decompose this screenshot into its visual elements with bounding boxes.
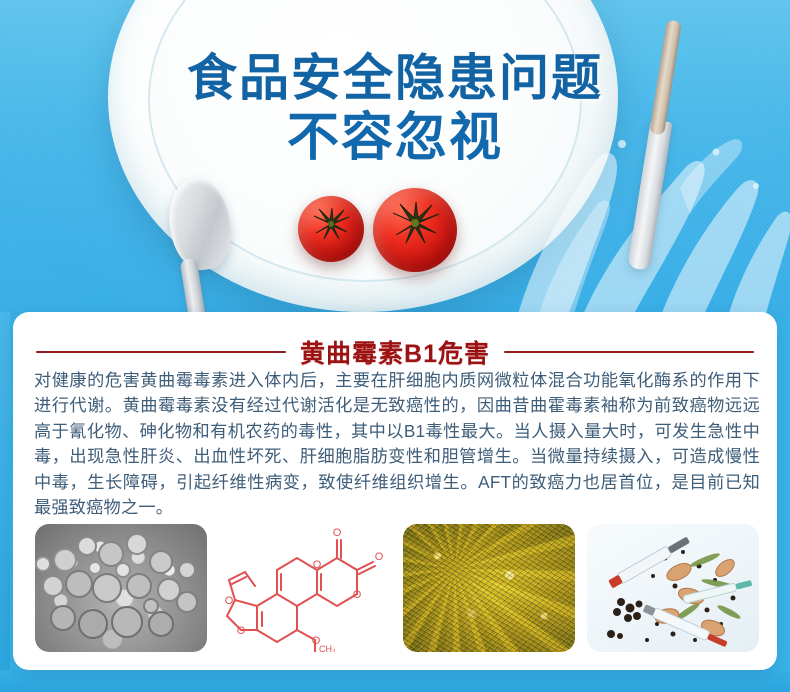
thumbnail-moldy-grain-texture[interactable] [403,524,575,652]
rule-left [36,351,286,353]
bottom-strip [0,670,790,692]
peanuts-syringes-icon [587,524,759,652]
aflatoxin-structure-icon: O O O O O O O CH₃ [219,524,391,652]
hero-banner: 食品安全隐患问题 不容忽视 [0,0,790,318]
svg-text:O: O [313,559,322,571]
tomato-stem-icon [311,207,351,241]
mold-spores-icon [35,524,207,652]
tomato-small [298,196,364,262]
left-edge-strip [0,312,10,692]
page-title-line-1: 食品安全隐患问题 [0,52,790,105]
svg-text:O: O [375,551,384,563]
hero-title-block: 食品安全隐患问题 不容忽视 [0,52,790,166]
body-text-block: 对健康的危害黄曲霉毒素进入体内后，主要在肝细胞内质网微粒体混合功能氧化酶系的作用… [34,368,760,520]
svg-text:O: O [333,527,342,539]
thumbnail-peanuts-and-syringes[interactable] [587,524,759,652]
section-header: 黄曲霉素B1危害 [13,334,777,370]
grain-texture-overlay [403,524,575,652]
rule-right [504,351,754,353]
svg-text:O: O [225,595,234,607]
content-card: 黄曲霉素B1危害 对健康的危害黄曲霉毒素进入体内后，主要在肝细胞内质网微粒体混合… [13,312,777,670]
tomato-large [373,188,457,272]
thumbnail-aflatoxin-b1-chemical-structure[interactable]: O O O O O O O CH₃ [219,524,391,652]
section-title: 黄曲霉素B1危害 [300,334,490,370]
tomato-stem-icon [389,201,441,245]
thumbnail-mold-sem-micrograph[interactable] [35,524,207,652]
svg-text:O: O [237,625,246,637]
svg-text:CH₃: CH₃ [319,644,336,652]
svg-text:O: O [353,589,362,601]
body-paragraph: 对健康的危害黄曲霉毒素进入体内后，主要在肝细胞内质网微粒体混合功能氧化酶系的作用… [34,368,760,520]
thumbnail-row: O O O O O O O CH₃ [35,524,757,652]
poster-page: 食品安全隐患问题 不容忽视 黄曲霉素B1危害 对健康的危害黄曲霉毒素进入体内后，… [0,0,790,692]
page-title-line-2: 不容忽视 [0,111,790,166]
